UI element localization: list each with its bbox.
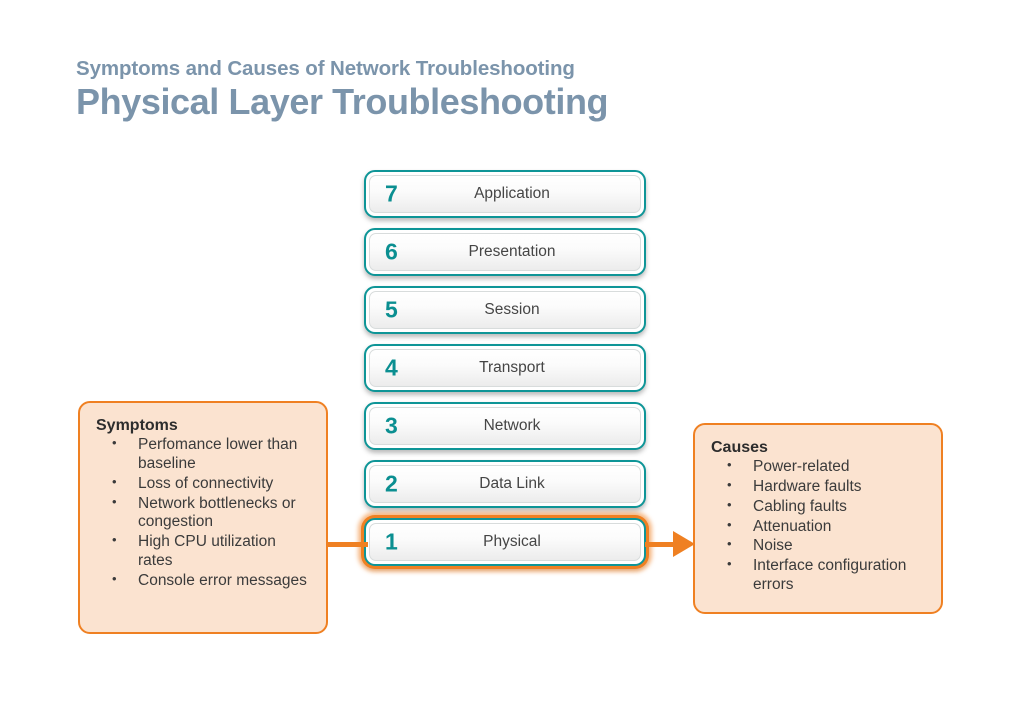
layer-body: 4 Transport [369, 349, 641, 387]
osi-layer-physical[interactable]: 1 Physical [364, 518, 646, 566]
osi-layer-network[interactable]: 3 Network [364, 402, 646, 450]
layer-number: 7 [385, 183, 398, 206]
list-item: Noise [711, 537, 929, 556]
slide-canvas: Symptoms and Causes of Network Troublesh… [0, 0, 1013, 701]
layer-number: 5 [385, 299, 398, 322]
layer-label: Data Link [370, 476, 640, 492]
page-title: Physical Layer Troubleshooting [76, 82, 896, 122]
layer-label: Physical [370, 534, 640, 550]
layer-label: Session [370, 302, 640, 318]
symptoms-to-physical-connector [326, 542, 368, 547]
causes-panel: Causes Power-related Hardware faults Cab… [693, 423, 943, 614]
layer-label: Network [370, 418, 640, 434]
layer-body: 7 Application [369, 175, 641, 213]
layer-body: 6 Presentation [369, 233, 641, 271]
symptoms-list: Perfomance lower than baseline Loss of c… [96, 436, 314, 590]
list-item: Network bottlenecks or congestion [96, 495, 314, 533]
slide-subtitle: Symptoms and Causes of Network Troublesh… [76, 58, 896, 81]
osi-layer-presentation[interactable]: 6 Presentation [364, 228, 646, 276]
layer-body: 3 Network [369, 407, 641, 445]
layer-body: 2 Data Link [369, 465, 641, 503]
list-item: Loss of connectivity [96, 475, 314, 494]
symptoms-heading: Symptoms [96, 417, 314, 435]
list-item: Attenuation [711, 518, 929, 537]
layer-number: 6 [385, 241, 398, 264]
layer-label: Application [370, 186, 640, 202]
layer-body: 1 Physical [369, 523, 641, 561]
list-item: High CPU utilization rates [96, 533, 314, 571]
osi-layer-data-link[interactable]: 2 Data Link [364, 460, 646, 508]
list-item: Hardware faults [711, 478, 929, 497]
title-block: Symptoms and Causes of Network Troublesh… [76, 58, 896, 122]
list-item: Interface configuration errors [711, 557, 929, 595]
list-item: Power-related [711, 458, 929, 477]
layer-number: 3 [385, 415, 398, 438]
osi-layer-transport[interactable]: 4 Transport [364, 344, 646, 392]
layer-number: 1 [385, 531, 398, 554]
layer-label: Transport [370, 360, 640, 376]
list-item: Console error messages [96, 572, 314, 591]
osi-layer-session[interactable]: 5 Session [364, 286, 646, 334]
osi-layer-application[interactable]: 7 Application [364, 170, 646, 218]
layer-label: Presentation [370, 244, 640, 260]
symptoms-panel: Symptoms Perfomance lower than baseline … [78, 401, 328, 634]
list-item: Cabling faults [711, 498, 929, 517]
layer-number: 4 [385, 357, 398, 380]
osi-layer-stack: 7 Application 6 Presentation 5 Session 4… [364, 170, 646, 576]
causes-heading: Causes [711, 439, 929, 457]
layer-body: 5 Session [369, 291, 641, 329]
causes-list: Power-related Hardware faults Cabling fa… [711, 458, 929, 594]
layer-number: 2 [385, 473, 398, 496]
arrow-right-icon [673, 531, 695, 557]
list-item: Perfomance lower than baseline [96, 436, 314, 474]
